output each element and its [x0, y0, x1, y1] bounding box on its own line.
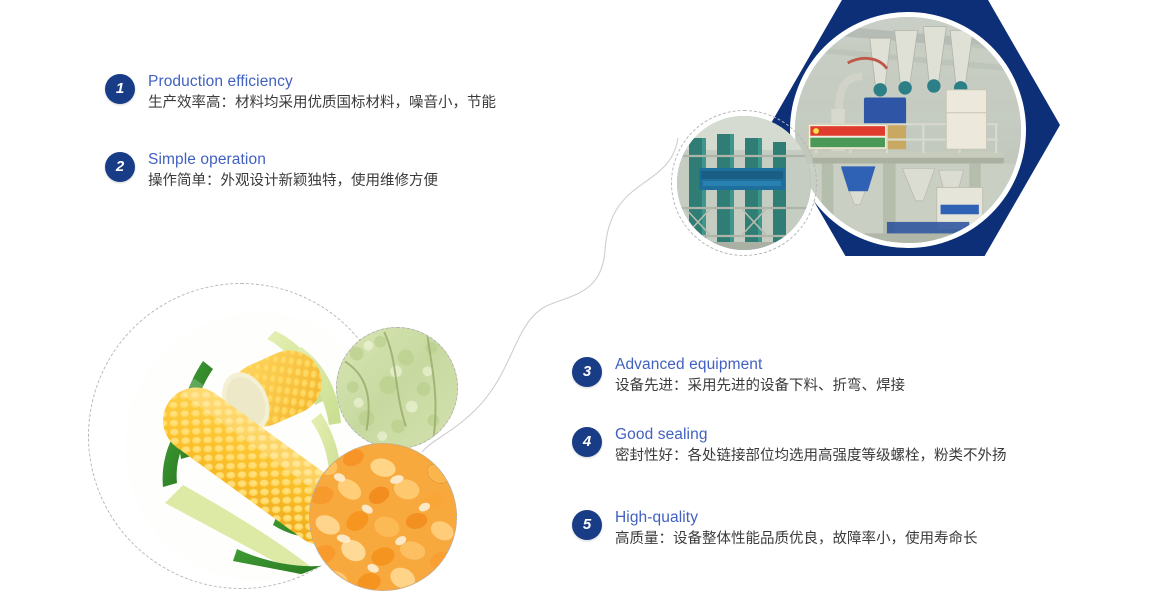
feature-title-cn-2: 操作简单：外观设计新颖独特，使用维修方便 [148, 170, 438, 192]
feature-text-1: Production efficiency 生产效率高：材料均采用优质国标材料，… [148, 72, 496, 114]
feature-text-4: Good sealing 密封性好：各处链接部位均选用高强度等级螺栓，粉类不外扬 [615, 425, 1007, 467]
feature-item-2[interactable]: 2 Simple operation 操作简单：外观设计新颖独特，使用维修方便 [105, 150, 438, 192]
feature-badge-3: 3 [572, 357, 602, 387]
feature-text-2: Simple operation 操作简单：外观设计新颖独特，使用维修方便 [148, 150, 438, 192]
feature-title-cn-4: 密封性好：各处链接部位均选用高强度等级螺栓，粉类不外扬 [615, 445, 1007, 467]
flour-milling-plant-photo [790, 12, 1026, 248]
green-corn-flour-photo [336, 327, 458, 449]
feature-title-cn-3: 设备先进：采用先进的设备下料、折弯、焊接 [615, 375, 905, 397]
feature-title-en-2: Simple operation [148, 150, 438, 170]
green-milling-equipment-photo [677, 116, 811, 250]
feature-text-5: High-quality 高质量：设备整体性能品质优良，故障率小，使用寿命长 [615, 508, 978, 550]
feature-badge-5: 5 [572, 510, 602, 540]
feature-badge-2: 2 [105, 152, 135, 182]
feature-item-1[interactable]: 1 Production efficiency 生产效率高：材料均采用优质国标材… [105, 72, 496, 114]
feature-badge-4: 4 [572, 427, 602, 457]
feature-title-cn-1: 生产效率高：材料均采用优质国标材料，噪音小，节能 [148, 92, 496, 114]
feature-title-cn-5: 高质量：设备整体性能品质优良，故障率小，使用寿命长 [615, 528, 978, 550]
feature-title-en-3: Advanced equipment [615, 355, 905, 375]
feature-text-3: Advanced equipment 设备先进：采用先进的设备下料、折弯、焊接 [615, 355, 905, 397]
feature-title-en-5: High-quality [615, 508, 978, 528]
feature-item-4[interactable]: 4 Good sealing 密封性好：各处链接部位均选用高强度等级螺栓，粉类不… [572, 425, 1007, 467]
feature-title-en-4: Good sealing [615, 425, 1007, 445]
feature-item-3[interactable]: 3 Advanced equipment 设备先进：采用先进的设备下料、折弯、焊… [572, 355, 905, 397]
orange-corn-grits-photo [309, 443, 457, 591]
feature-title-en-1: Production efficiency [148, 72, 496, 92]
feature-badge-1: 1 [105, 74, 135, 104]
feature-item-5[interactable]: 5 High-quality 高质量：设备整体性能品质优良，故障率小，使用寿命长 [572, 508, 978, 550]
infographic-canvas: 1 Production efficiency 生产效率高：材料均采用优质国标材… [0, 0, 1154, 591]
